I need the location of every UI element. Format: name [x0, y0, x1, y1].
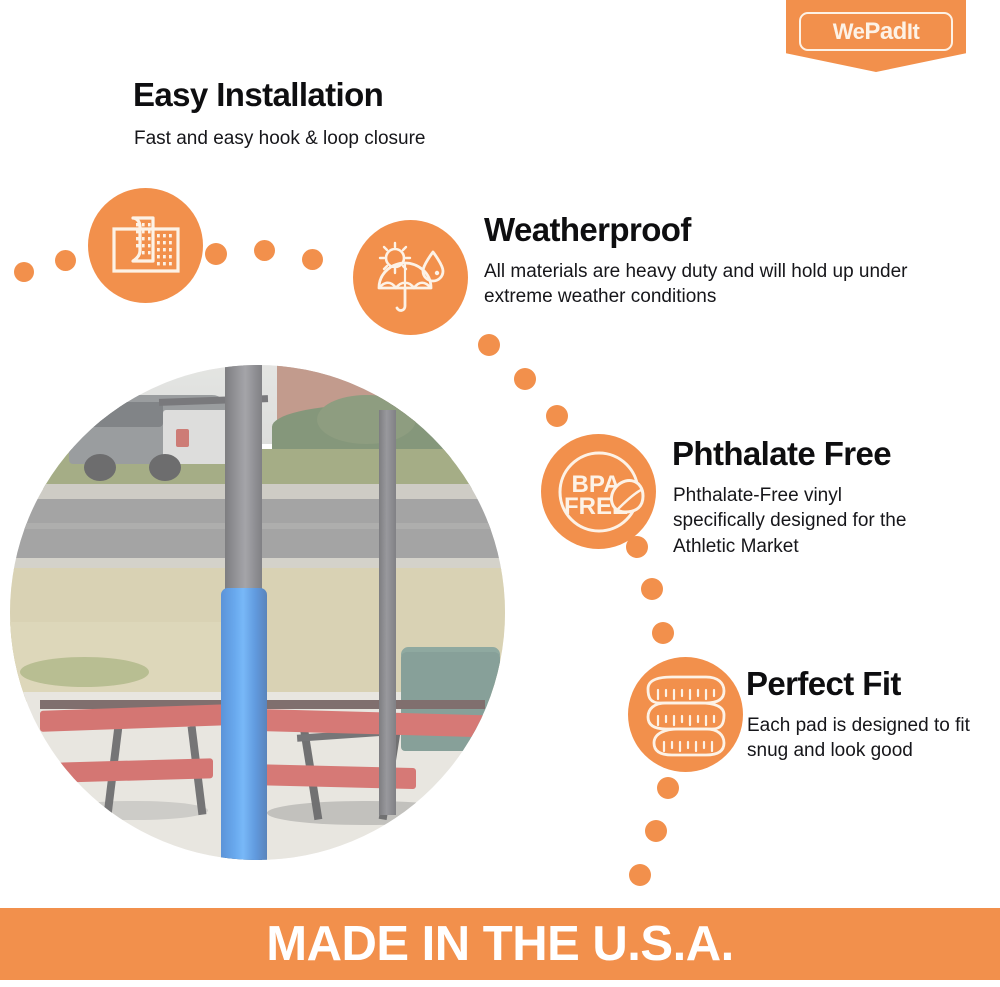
photo-suv-wheel-rear	[149, 454, 181, 481]
connector-dot	[626, 536, 648, 558]
icon-circle-phthalate-free: BPA FREE	[541, 434, 656, 549]
connector-dot	[205, 243, 227, 265]
feature-title-weatherproof: Weatherproof	[484, 213, 691, 248]
sun-umbrella-raindrop-icon	[371, 240, 451, 316]
photo-hedge-mound	[317, 395, 416, 445]
connector-dot	[652, 622, 674, 644]
hook-and-loop-icon	[109, 213, 183, 279]
made-in-usa-banner: MADE IN THE U.S.A.	[0, 908, 1000, 980]
photo-suv-taillight	[176, 429, 189, 447]
logo-word-it: It	[907, 19, 919, 44]
feature-description-weatherproof: All materials are heavy duty and will ho…	[484, 259, 914, 310]
logo-word-we: We	[833, 19, 865, 44]
connector-dot	[641, 578, 663, 600]
photo-grass-patch	[20, 657, 149, 687]
connector-dot	[514, 368, 536, 390]
feature-title-perfect-fit: Perfect Fit	[746, 667, 901, 702]
connector-dot	[657, 777, 679, 799]
product-photo	[10, 365, 505, 860]
connector-dot	[254, 240, 275, 261]
brand-logo: WePadIt	[786, 0, 966, 72]
infographic-page: WePadIt Easy Installation Fast and easy …	[0, 0, 1000, 987]
product-photo-scene	[10, 365, 505, 860]
bpa-free-leaf-icon: BPA FREE	[547, 440, 651, 544]
connector-dot	[645, 820, 667, 842]
made-in-usa-text: MADE IN THE U.S.A.	[266, 920, 733, 969]
icon-circle-easy-installation	[88, 188, 203, 303]
photo-suv-window	[84, 402, 163, 427]
feature-description-phthalate-free: Phthalate-Free vinyl specifically design…	[673, 483, 931, 559]
photo-blue-pole-pad	[221, 588, 267, 860]
connector-dot	[302, 249, 323, 270]
feature-title-phthalate-free: Phthalate Free	[672, 437, 891, 472]
measuring-tape-icon	[640, 671, 732, 759]
logo-word-pad: Pad	[864, 18, 907, 45]
logo-outline-frame: WePadIt	[799, 12, 953, 51]
logo-wordmark: WePadIt	[833, 20, 920, 44]
icon-circle-perfect-fit	[628, 657, 743, 772]
connector-dot	[55, 250, 76, 271]
feature-description-easy-installation: Fast and easy hook & loop closure	[134, 126, 554, 151]
connector-dot	[546, 405, 568, 427]
feature-description-perfect-fit: Each pad is designed to fit snug and loo…	[747, 713, 975, 764]
feature-title-easy-installation: Easy Installation	[133, 78, 383, 113]
photo-table-shadow-right	[267, 801, 465, 826]
photo-pole-right	[379, 410, 396, 816]
connector-dot	[14, 262, 34, 282]
icon-circle-weatherproof	[353, 220, 468, 335]
connector-dot	[629, 864, 651, 886]
connector-dot	[478, 334, 500, 356]
